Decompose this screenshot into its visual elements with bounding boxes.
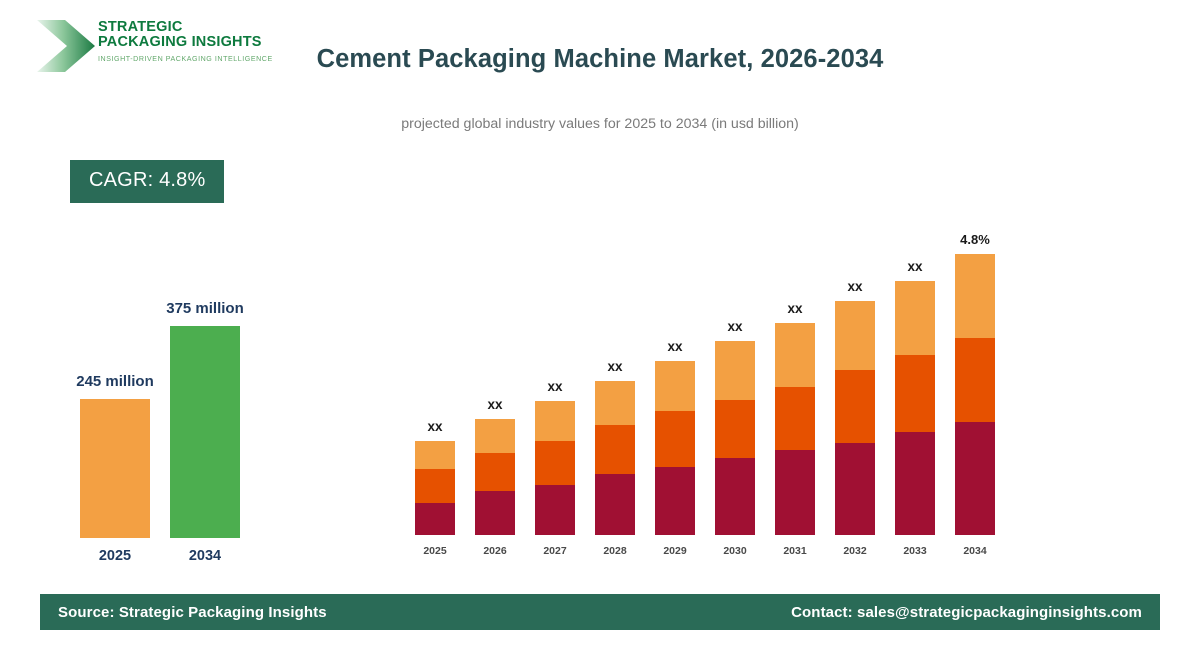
x-axis-label-2026: 2026	[475, 545, 515, 557]
logo-line-2: PACKAGING INSIGHTS	[98, 35, 273, 50]
stack-segment-segment-1-2028	[595, 474, 635, 535]
bar-top-label-2031: xx	[765, 301, 825, 316]
logo-line-1: STRATEGIC	[98, 20, 273, 35]
bar-2034	[170, 326, 240, 539]
stack-segment-segment-1-2027	[535, 485, 575, 535]
bar-top-label-2032: xx	[825, 279, 885, 294]
stacked-bar-2031	[775, 323, 815, 535]
bar-top-label-2029: xx	[645, 339, 705, 354]
stack-segment-segment-2-2033	[895, 355, 935, 432]
bar-top-label-2028: xx	[585, 359, 645, 374]
stack-segment-segment-2-2025	[415, 469, 455, 503]
bar-top-label-2025: xx	[405, 419, 465, 434]
x-axis-label-2031: 2031	[775, 545, 815, 557]
stacked-bar-2030	[715, 341, 755, 535]
stacked-bar-2029	[655, 361, 695, 535]
bar-2025	[80, 399, 150, 538]
footer-source: Source: Strategic Packaging Insights	[58, 604, 327, 621]
stack-segment-segment-1-2031	[775, 450, 815, 535]
stack-segment-segment-2-2032	[835, 370, 875, 443]
stacked-bar-2027	[535, 401, 575, 535]
page-subtitle: projected global industry values for 202…	[280, 114, 920, 134]
stacked-bar-2025	[415, 441, 455, 535]
stack-segment-segment-3-2034	[955, 254, 995, 338]
brand-logo: STRATEGIC PACKAGING INSIGHTS INSIGHT-DRI…	[30, 14, 260, 78]
bar-fill	[80, 399, 150, 538]
stack-segment-segment-1-2026	[475, 491, 515, 535]
bar-top-label-2026: xx	[465, 397, 525, 412]
stack-segment-segment-3-2026	[475, 419, 515, 454]
bar-top-label-2033: xx	[885, 259, 945, 274]
x-axis-label-2034: 2034	[170, 548, 240, 564]
stack-segment-segment-3-2029	[655, 361, 695, 411]
stack-segment-segment-2-2031	[775, 387, 815, 451]
stacked-bar-2033	[895, 281, 935, 535]
stacked-forecast-chart: xx2025xx2026xx2027xx2028xx2029xx2030xx20…	[400, 190, 1020, 560]
stack-segment-segment-3-2030	[715, 341, 755, 400]
stacked-bar-2034	[955, 254, 995, 535]
logo-tagline: INSIGHT-DRIVEN PACKAGING INTELLIGENCE	[98, 55, 273, 64]
x-axis-label-2032: 2032	[835, 545, 875, 557]
endpoint-comparison-chart: 245 million2025375 million2034	[40, 300, 300, 570]
stack-segment-segment-1-2029	[655, 467, 695, 535]
stack-segment-segment-3-2033	[895, 281, 935, 354]
page-title: Cement Packaging Machine Market, 2026-20…	[300, 42, 900, 76]
stacked-bar-2026	[475, 419, 515, 535]
infographic-page: STRATEGIC PACKAGING INSIGHTS INSIGHT-DRI…	[0, 0, 1200, 650]
x-axis-label-2025: 2025	[415, 545, 455, 557]
bar-value-label-2034: 375 million	[125, 300, 285, 317]
stacked-bar-2032	[835, 301, 875, 535]
stack-segment-segment-3-2032	[835, 301, 875, 370]
x-axis-label-2025: 2025	[80, 548, 150, 564]
bar-fill	[170, 326, 240, 539]
x-axis-label-2028: 2028	[595, 545, 635, 557]
bar-top-label-2027: xx	[525, 379, 585, 394]
stack-segment-segment-2-2026	[475, 453, 515, 491]
stacked-bar-2028	[595, 381, 635, 535]
x-axis-label-2034: 2034	[955, 545, 995, 557]
stack-segment-segment-1-2033	[895, 432, 935, 535]
x-axis-label-2027: 2027	[535, 545, 575, 557]
stack-segment-segment-1-2025	[415, 503, 455, 535]
x-axis-label-2033: 2033	[895, 545, 935, 557]
chevron-right-icon	[35, 18, 97, 74]
stack-segment-segment-3-2031	[775, 323, 815, 387]
stack-segment-segment-2-2028	[595, 425, 635, 474]
cagr-badge: CAGR: 4.8%	[70, 160, 224, 203]
stack-segment-segment-2-2034	[955, 338, 995, 423]
stack-segment-segment-3-2028	[595, 381, 635, 425]
stack-segment-segment-1-2034	[955, 422, 995, 535]
footer-bar: Source: Strategic Packaging Insights Con…	[40, 594, 1160, 630]
stack-segment-segment-2-2029	[655, 411, 695, 467]
stack-segment-segment-3-2025	[415, 441, 455, 469]
footer-contact: Contact: sales@strategicpackaginginsight…	[791, 604, 1142, 621]
stack-segment-segment-1-2030	[715, 458, 755, 535]
stack-segment-segment-2-2027	[535, 441, 575, 485]
bar-top-label-2030: xx	[705, 319, 765, 334]
x-axis-label-2030: 2030	[715, 545, 755, 557]
x-axis-label-2029: 2029	[655, 545, 695, 557]
stack-segment-segment-3-2027	[535, 401, 575, 441]
stack-segment-segment-1-2032	[835, 443, 875, 535]
bar-top-label-2034: 4.8%	[945, 232, 1005, 247]
stack-segment-segment-2-2030	[715, 400, 755, 458]
